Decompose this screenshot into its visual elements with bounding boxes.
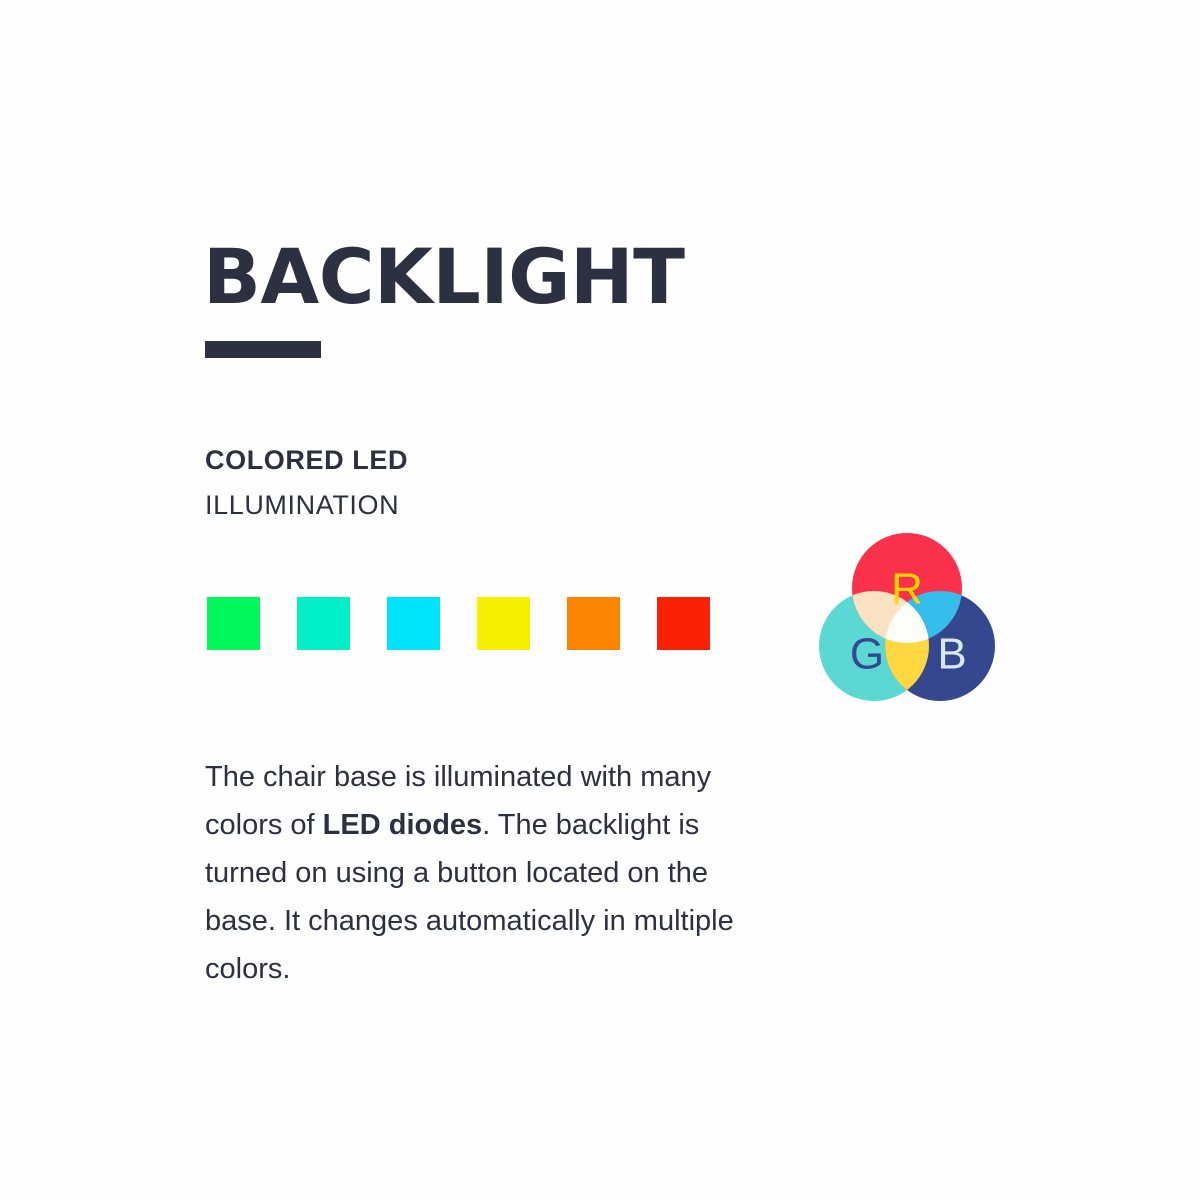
venn-letter-g: G: [850, 630, 884, 679]
subheading-secondary: ILLUMINATION: [205, 490, 399, 521]
subheading-primary: COLORED LED: [205, 445, 408, 476]
color-swatch-turquoise: [297, 597, 350, 650]
color-swatch-spring-green: [207, 597, 260, 650]
color-swatch-orange: [567, 597, 620, 650]
venn-letter-b: B: [937, 630, 966, 679]
rgb-venn-diagram-icon: R G B: [812, 526, 1002, 716]
body-paragraph: The chair base is illuminated with many …: [205, 753, 745, 993]
body-text-emphasis: LED diodes: [323, 809, 483, 841]
venn-letter-r: R: [891, 565, 923, 614]
color-swatch-cyan: [387, 597, 440, 650]
title-underline-rule: [205, 341, 321, 358]
color-swatch-red: [657, 597, 710, 650]
page-title: BACKLIGHT: [203, 239, 684, 315]
color-swatch-row: [207, 597, 710, 650]
color-swatch-yellow: [477, 597, 530, 650]
poster-canvas: BACKLIGHT COLORED LED ILLUMINATION: [0, 0, 1200, 1200]
